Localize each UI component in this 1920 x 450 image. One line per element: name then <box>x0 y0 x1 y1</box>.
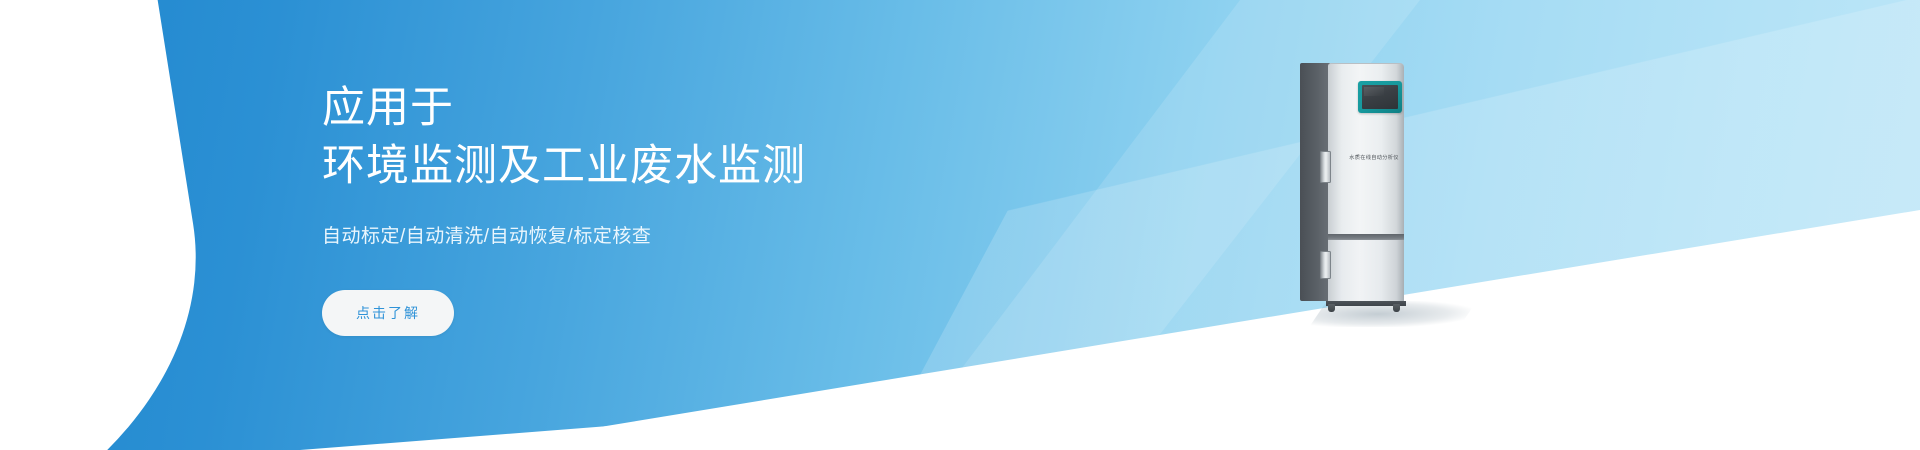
display-bezel <box>1358 81 1402 113</box>
headline-line-2: 环境监测及工业废水监测 <box>322 137 962 195</box>
page-title: 应用于 环境监测及工业废水监测 <box>322 79 962 195</box>
hero-content: 应用于 环境监测及工业废水监测 自动标定/自动清洗/自动恢复/标定核查 点击了解 <box>322 50 962 336</box>
hero-banner: 应用于 环境监测及工业废水监测 自动标定/自动清洗/自动恢复/标定核查 点击了解… <box>0 0 1920 450</box>
water-quality-analyzer: 水质在线自动分析仪 <box>1300 63 1404 307</box>
headline-line-1: 应用于 <box>322 84 454 132</box>
lower-door-handle <box>1320 251 1331 279</box>
hero-subtitle: 自动标定/自动清洗/自动恢复/标定核查 <box>322 224 962 250</box>
product-illustration: 水质在线自动分析仪 <box>1300 63 1480 323</box>
product-label: 水质在线自动分析仪 <box>1344 155 1404 162</box>
caster-wheel-right <box>1393 304 1400 312</box>
learn-more-button[interactable]: 点击了解 <box>322 290 454 336</box>
display-screen <box>1362 85 1398 109</box>
screen-glare <box>1364 87 1384 96</box>
caster-wheel-left <box>1328 304 1335 312</box>
cabinet-lower-door <box>1328 240 1404 301</box>
upper-door-handle <box>1320 151 1331 183</box>
